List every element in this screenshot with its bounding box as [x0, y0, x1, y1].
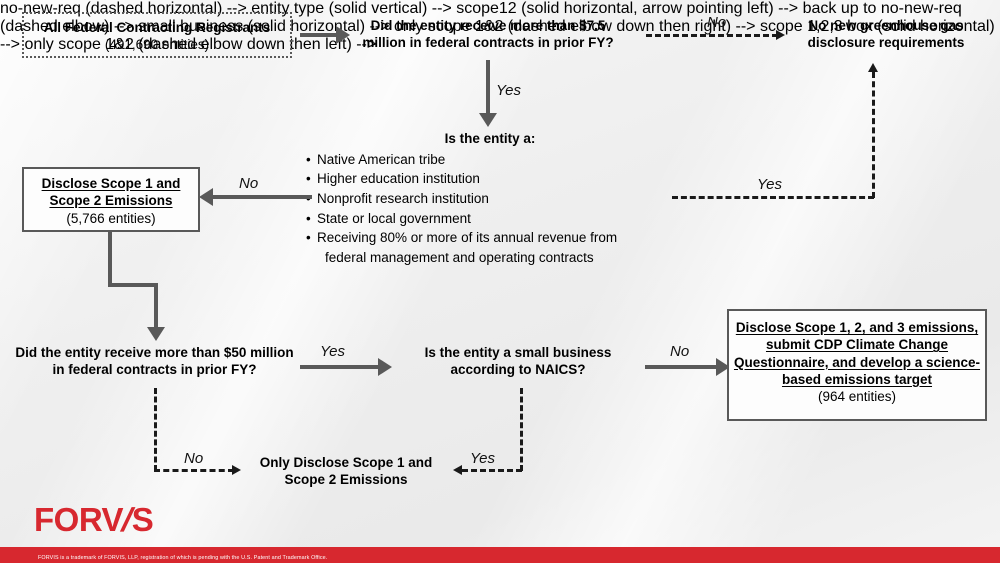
node-scope123-subtitle: (964 entities): [729, 388, 985, 405]
arrowhead-scope12-to-q50: [147, 327, 165, 341]
node-question-small-business: Is the entity a small business according…: [393, 344, 643, 379]
node-no-new-req-title: No new greenhouse gas disclosure require…: [786, 17, 986, 52]
edge-q75-no: [646, 34, 778, 37]
entity-type-list: Native American tribe Higher education i…: [305, 150, 675, 268]
list-item: State or local government: [305, 209, 675, 229]
list-item-line-1: Receiving 80% or more of its annual reve…: [317, 230, 617, 245]
arrowhead-smallbiz-yes: [453, 465, 462, 475]
edge-q50-no-vertical: [154, 388, 157, 471]
node-scope12-subtitle: (5,766 entities): [24, 210, 198, 227]
node-start-subtitle: (491,690 entities): [24, 36, 290, 53]
edge-scope12-to-q50-seg3: [154, 283, 158, 330]
edge-label-entity-yes: Yes: [757, 176, 782, 193]
edge-q50-no-horizontal: [154, 469, 234, 472]
list-item: Higher education institution: [305, 169, 675, 189]
slide-canvas: All Federal Contracting Registrants (491…: [0, 0, 1000, 563]
entity-type-header: Is the entity a:: [305, 130, 675, 148]
edge-entity-yes-vertical: [872, 72, 875, 198]
arrowhead-entity-no: [199, 188, 213, 206]
node-all-federal-contracting-registrants: All Federal Contracting Registrants (491…: [22, 12, 292, 58]
edge-smallbiz-no: [645, 365, 720, 369]
forvis-logo: FORV/S: [34, 503, 153, 536]
edge-label-q75-yes: Yes: [496, 82, 521, 99]
node-no-new-greenhouse-gas-requirements: No new greenhouse gas disclosure require…: [786, 17, 986, 52]
list-item-line-2: federal management and operating contrac…: [317, 248, 675, 268]
edge-label-smallbiz-yes: Yes: [470, 450, 495, 467]
node-question-7-5-million: Did the entity receive more than $7.5 mi…: [348, 17, 628, 52]
edge-q50-yes: [300, 365, 380, 369]
arrowhead-q50-yes: [378, 358, 392, 376]
arrowhead-q75-yes: [479, 113, 497, 127]
list-item: Nonprofit research institution: [305, 189, 675, 209]
edge-smallbiz-yes-vertical: [520, 388, 523, 471]
node-question-50m-title: Did the entity receive more than $50 mil…: [12, 344, 297, 379]
edge-label-q50-no: No: [184, 450, 203, 467]
edge-label-smallbiz-no: No: [670, 343, 689, 360]
node-start-title: All Federal Contracting Registrants: [24, 19, 290, 36]
node-only-disclose-scope-1-and-2: Only Disclose Scope 1 and Scope 2 Emissi…: [246, 454, 446, 489]
edge-label-entity-no: No: [239, 175, 258, 192]
arrowhead-q50-no: [232, 465, 241, 475]
edge-entity-yes-horizontal: [672, 196, 874, 199]
edge-smallbiz-yes-horizontal: [462, 469, 522, 472]
node-disclose-scope-1-and-2: Disclose Scope 1 and Scope 2 Emissions (…: [22, 167, 200, 232]
edge-q75-yes: [486, 60, 490, 116]
node-entity-type-criteria: Is the entity a: Native American tribe H…: [305, 130, 675, 268]
node-scope123-title: Disclose Scope 1, 2, and 3 emissions, su…: [729, 319, 985, 388]
edge-label-q75-no: No: [707, 14, 726, 31]
node-only-scope12-title: Only Disclose Scope 1 and Scope 2 Emissi…: [246, 454, 446, 489]
trademark-notice: FORVIS is a trademark of FORVIS, LLP, re…: [38, 555, 327, 561]
arrowhead-q75-no: [776, 30, 785, 40]
arrowhead-entity-yes: [868, 63, 878, 72]
node-question-small-business-title: Is the entity a small business according…: [393, 344, 643, 379]
node-scope12-title: Disclose Scope 1 and Scope 2 Emissions: [24, 175, 198, 210]
edge-scope12-to-q50-seg2: [108, 283, 158, 287]
edge-entity-no: [212, 195, 312, 199]
node-question-75m-title: Did the entity receive more than $7.5 mi…: [348, 17, 628, 52]
node-question-50-million: Did the entity receive more than $50 mil…: [12, 344, 297, 379]
list-item: Native American tribe: [305, 150, 675, 170]
edge-scope12-to-q50-seg1: [108, 232, 112, 287]
list-item: Receiving 80% or more of its annual reve…: [305, 228, 675, 267]
node-disclose-scope-1-2-and-3: Disclose Scope 1, 2, and 3 emissions, su…: [727, 309, 987, 421]
edge-start-to-question-75m: [300, 33, 338, 37]
edge-label-q50-yes: Yes: [320, 343, 345, 360]
logo-text-fore: FORV: [34, 501, 123, 538]
